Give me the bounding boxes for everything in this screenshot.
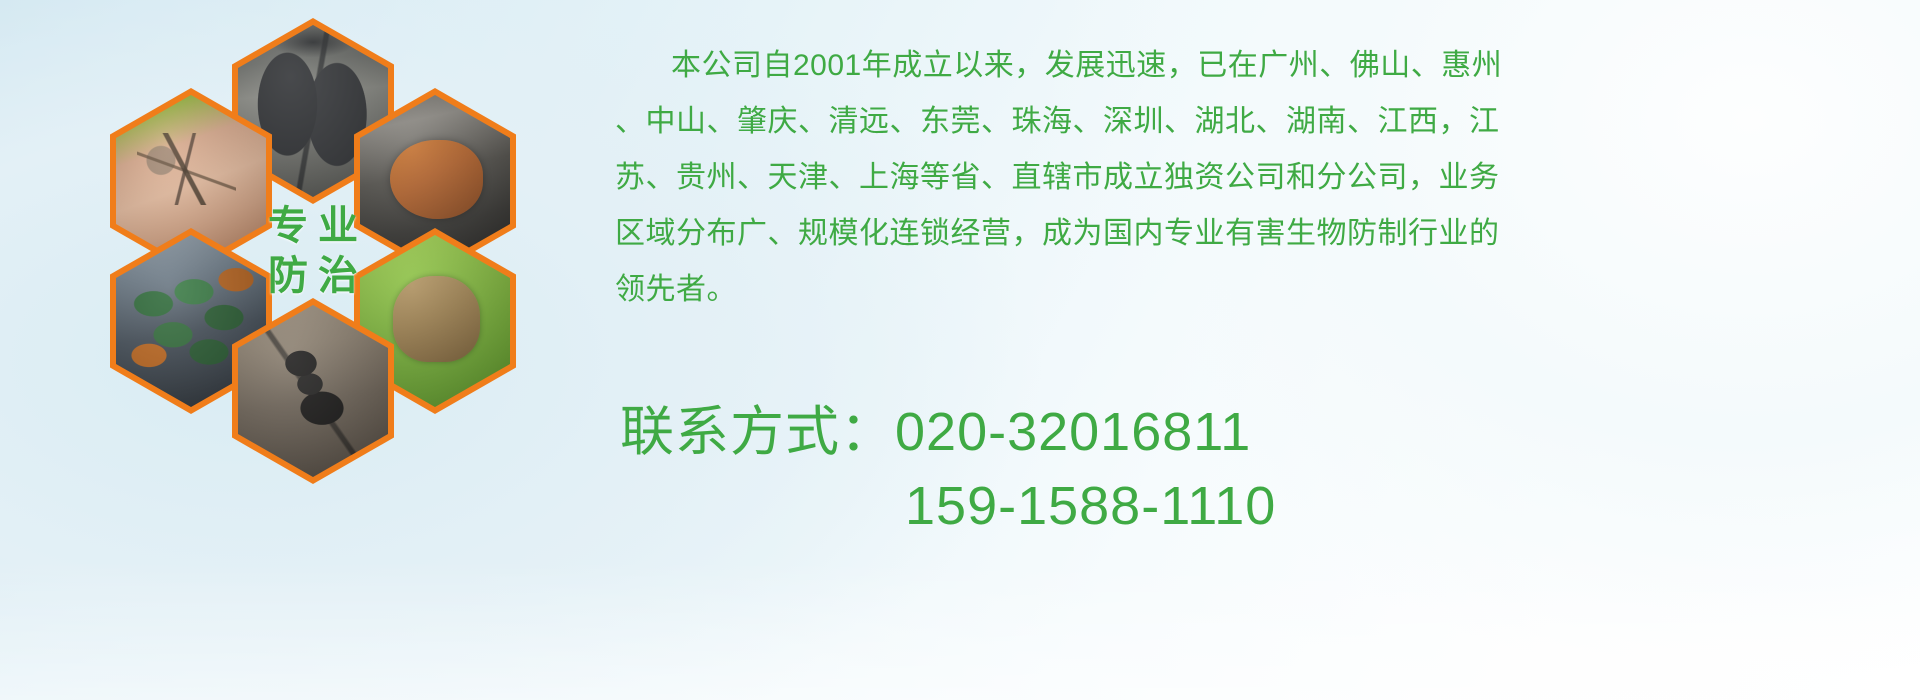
stinkbug-icon (393, 276, 480, 362)
intro-line: 区域分布广、规模化连锁经营，成为国内专业有害生物防制行业的 (615, 206, 1905, 262)
intro-line: 苏、贵州、天津、上海等省、直辖市成立独资公司和分公司，业务 (615, 150, 1905, 206)
slogan-line-1: 专业 (258, 203, 368, 249)
hexagon-photo-cluster: 专业 防治 (80, 0, 600, 580)
company-intro-paragraph: 本公司自2001年成立以来，发展迅速，已在广州、佛山、惠州 、中山、肇庆、清远、… (615, 38, 1905, 318)
intro-line: 本公司自2001年成立以来，发展迅速，已在广州、佛山、惠州 (615, 38, 1905, 94)
contact-block: 联系方式：020-32016811 159-1588-1110 (620, 395, 1910, 543)
contact-phone-primary[interactable]: 联系方式：020-32016811 (620, 395, 1910, 469)
intro-line: 、中山、肇庆、清远、东莞、珠海、深圳、湖北、湖南、江西，江 (615, 94, 1905, 150)
promo-banner: 专业 防治 本公司自2001年成立以来，发展迅速，已在广州、佛山、惠州 、中山、… (0, 0, 1920, 700)
slogan-line-2: 防治 (258, 253, 368, 299)
contact-phone-mobile[interactable]: 159-1588-1110 (620, 469, 1910, 543)
intro-line: 领先者。 (615, 262, 1905, 318)
cockroach-icon (390, 140, 483, 219)
mosquito-icon (137, 133, 236, 205)
